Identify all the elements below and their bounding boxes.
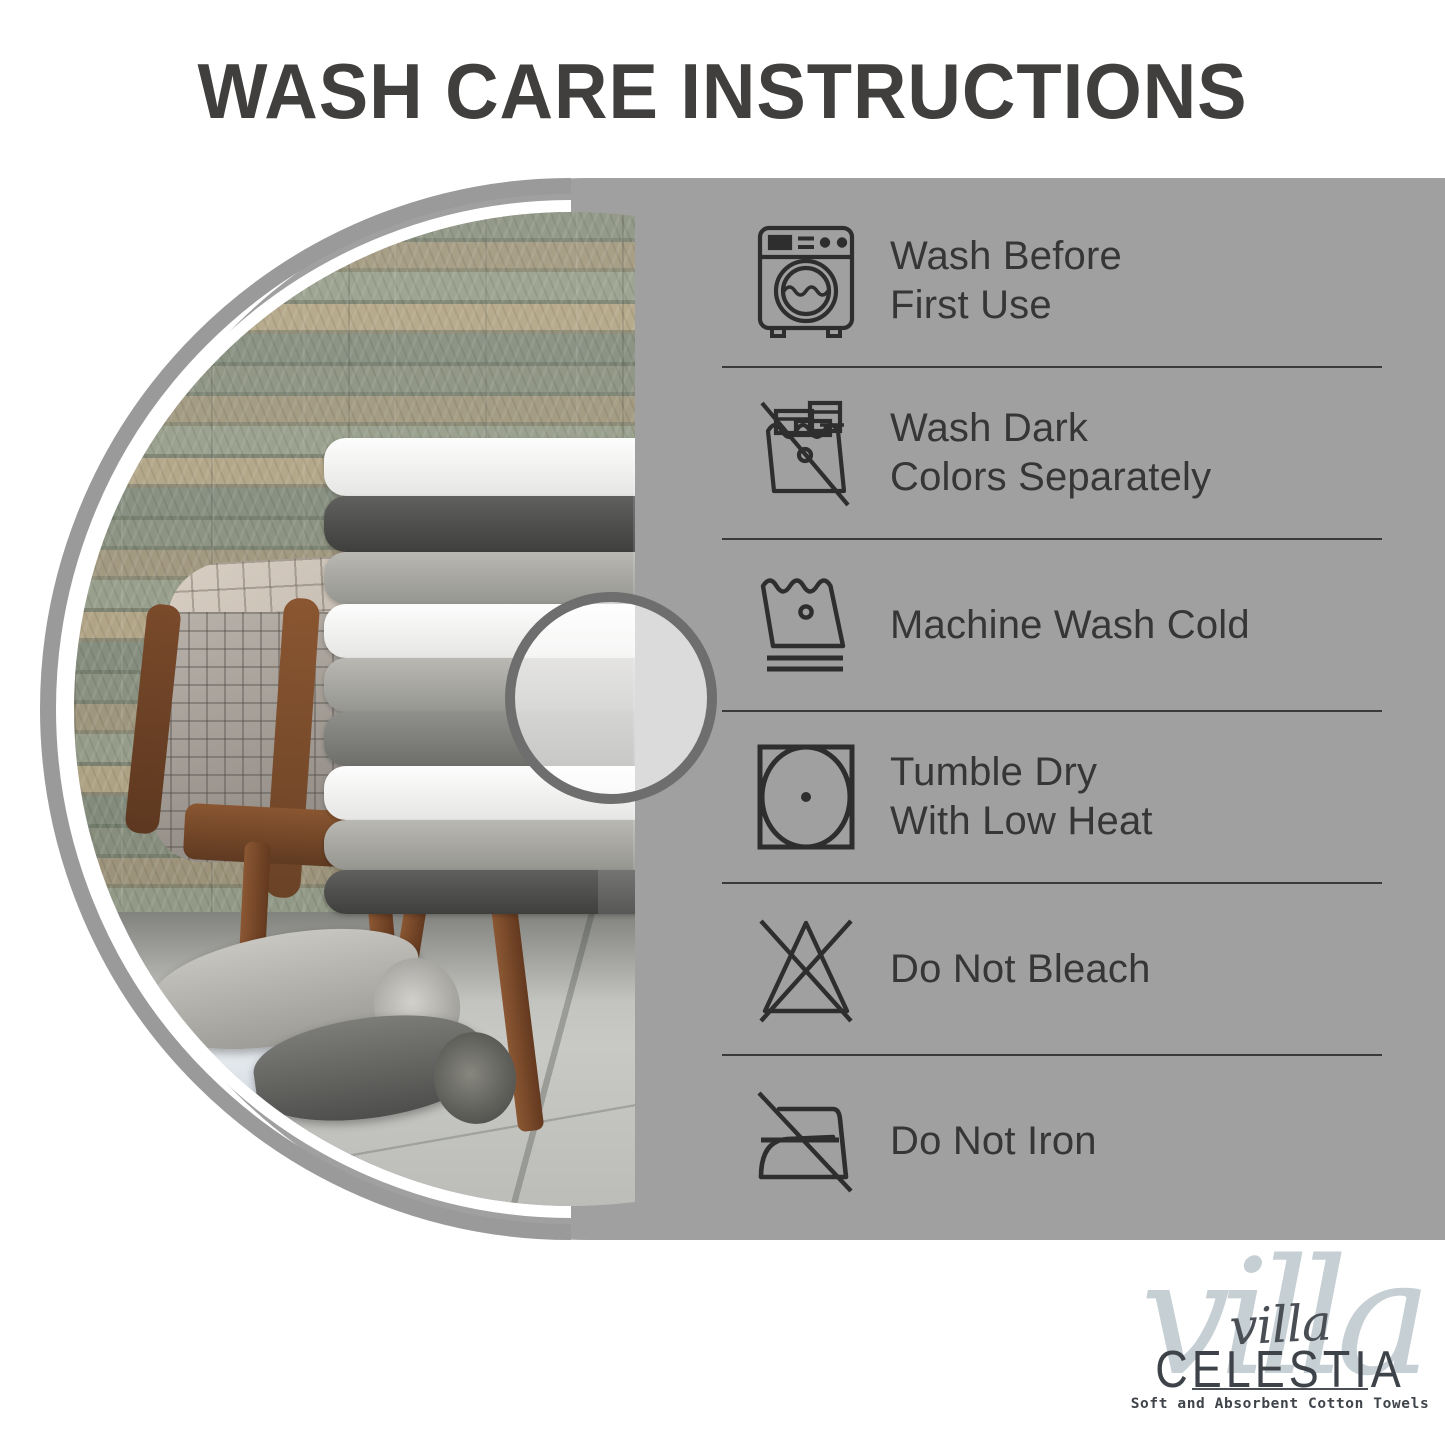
machine-wash-cold-icon — [722, 570, 890, 680]
logo-divider — [1192, 1388, 1368, 1390]
instruction-label: Tumble Dry With Low Heat — [890, 748, 1153, 846]
washing-machine-icon — [722, 223, 890, 339]
instruction-label: Do Not Bleach — [890, 945, 1151, 994]
instruction-list: Wash Before First Use Wash Dark Colors S… — [722, 196, 1382, 1226]
tumble-dry-low-icon — [722, 742, 890, 852]
instruction-label: Wash Dark Colors Separately — [890, 404, 1211, 502]
instruction-label: Machine Wash Cold — [890, 601, 1250, 650]
logo-tagline: Soft and Absorbent Cotton Towels — [1130, 1396, 1430, 1412]
instruction-row-do-not-bleach: Do Not Bleach — [722, 884, 1382, 1056]
instruction-row-wash-before-first-use: Wash Before First Use — [722, 196, 1382, 368]
instruction-row-machine-wash-cold: Machine Wash Cold — [722, 540, 1382, 712]
do-not-iron-icon — [722, 1085, 890, 1197]
instruction-row-wash-dark-colors-separately: Wash Dark Colors Separately — [722, 368, 1382, 540]
decorative-bubble-circle — [505, 592, 717, 804]
instruction-row-tumble-dry-low-heat: Tumble Dry With Low Heat — [722, 712, 1382, 884]
page-title: WASH CARE INSTRUCTIONS — [36, 46, 1409, 137]
no-mixed-wash-basin-icon — [722, 395, 890, 511]
do-not-bleach-icon — [722, 913, 890, 1025]
instruction-row-do-not-iron: Do Not Iron — [722, 1056, 1382, 1226]
instruction-label: Wash Before First Use — [890, 232, 1122, 330]
logo-name-celestia: CELESTIA — [1130, 1340, 1430, 1400]
instruction-label: Do Not Iron — [890, 1117, 1097, 1166]
brand-logo: villa villa CELESTIA Soft and Absorbent … — [1130, 1244, 1430, 1444]
